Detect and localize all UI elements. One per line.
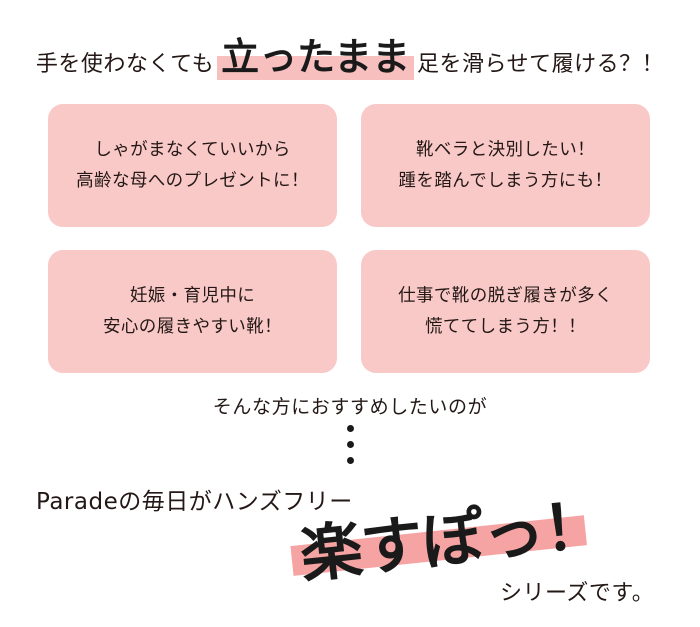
feature-line: 安心の履きやすい靴！ xyxy=(103,312,282,343)
brand-suffix-text: シリーズです。 xyxy=(500,575,654,607)
headline-emphasis-group: 立ったまま xyxy=(217,38,414,82)
headline-emphasis: 立ったまま xyxy=(221,35,410,79)
feature-box: しゃがまなくていいから 高齢な母へのプレゼントに！ xyxy=(48,104,337,227)
headline-prefix: 手を使わなくても xyxy=(36,54,214,82)
feature-line: 慌ててしまう方！！ xyxy=(425,312,586,343)
feature-line: 高齢な母へのプレゼントに！ xyxy=(76,166,309,197)
promo-graphic: 手を使わなくても 立ったまま 足を滑らせて履ける？！ しゃがまなくていいから 高… xyxy=(0,0,700,627)
ellipsis-dot xyxy=(347,457,354,464)
vertical-ellipsis xyxy=(0,425,700,464)
feature-line: 仕事で靴の脱ぎ履きが多く xyxy=(398,281,613,312)
feature-line: 靴ベラと決別したい！ xyxy=(416,135,595,166)
feature-box: 靴ベラと決別したい！ 踵を踏んでしまう方にも！ xyxy=(361,104,650,227)
feature-line: しゃがまなくていいから xyxy=(94,135,290,166)
headline-suffix: 足を滑らせて履ける？！ xyxy=(417,54,664,82)
headline: 手を使わなくても 立ったまま 足を滑らせて履ける？！ xyxy=(0,22,700,82)
feature-box: 妊娠・育児中に 安心の履きやすい靴！ xyxy=(48,250,337,373)
ellipsis-dot xyxy=(347,425,354,432)
bridge-text: そんな方におすすめしたいのが xyxy=(0,392,700,419)
feature-line: 妊娠・育児中に xyxy=(130,281,255,312)
feature-box: 仕事で靴の脱ぎ履きが多く 慌ててしまう方！！ xyxy=(361,250,650,373)
feature-box-grid: しゃがまなくていいから 高齢な母へのプレゼントに！ 靴ベラと決別したい！ 踵を踏… xyxy=(48,104,650,373)
ellipsis-dot xyxy=(347,441,354,448)
feature-line: 踵を踏んでしまう方にも！ xyxy=(399,166,613,197)
